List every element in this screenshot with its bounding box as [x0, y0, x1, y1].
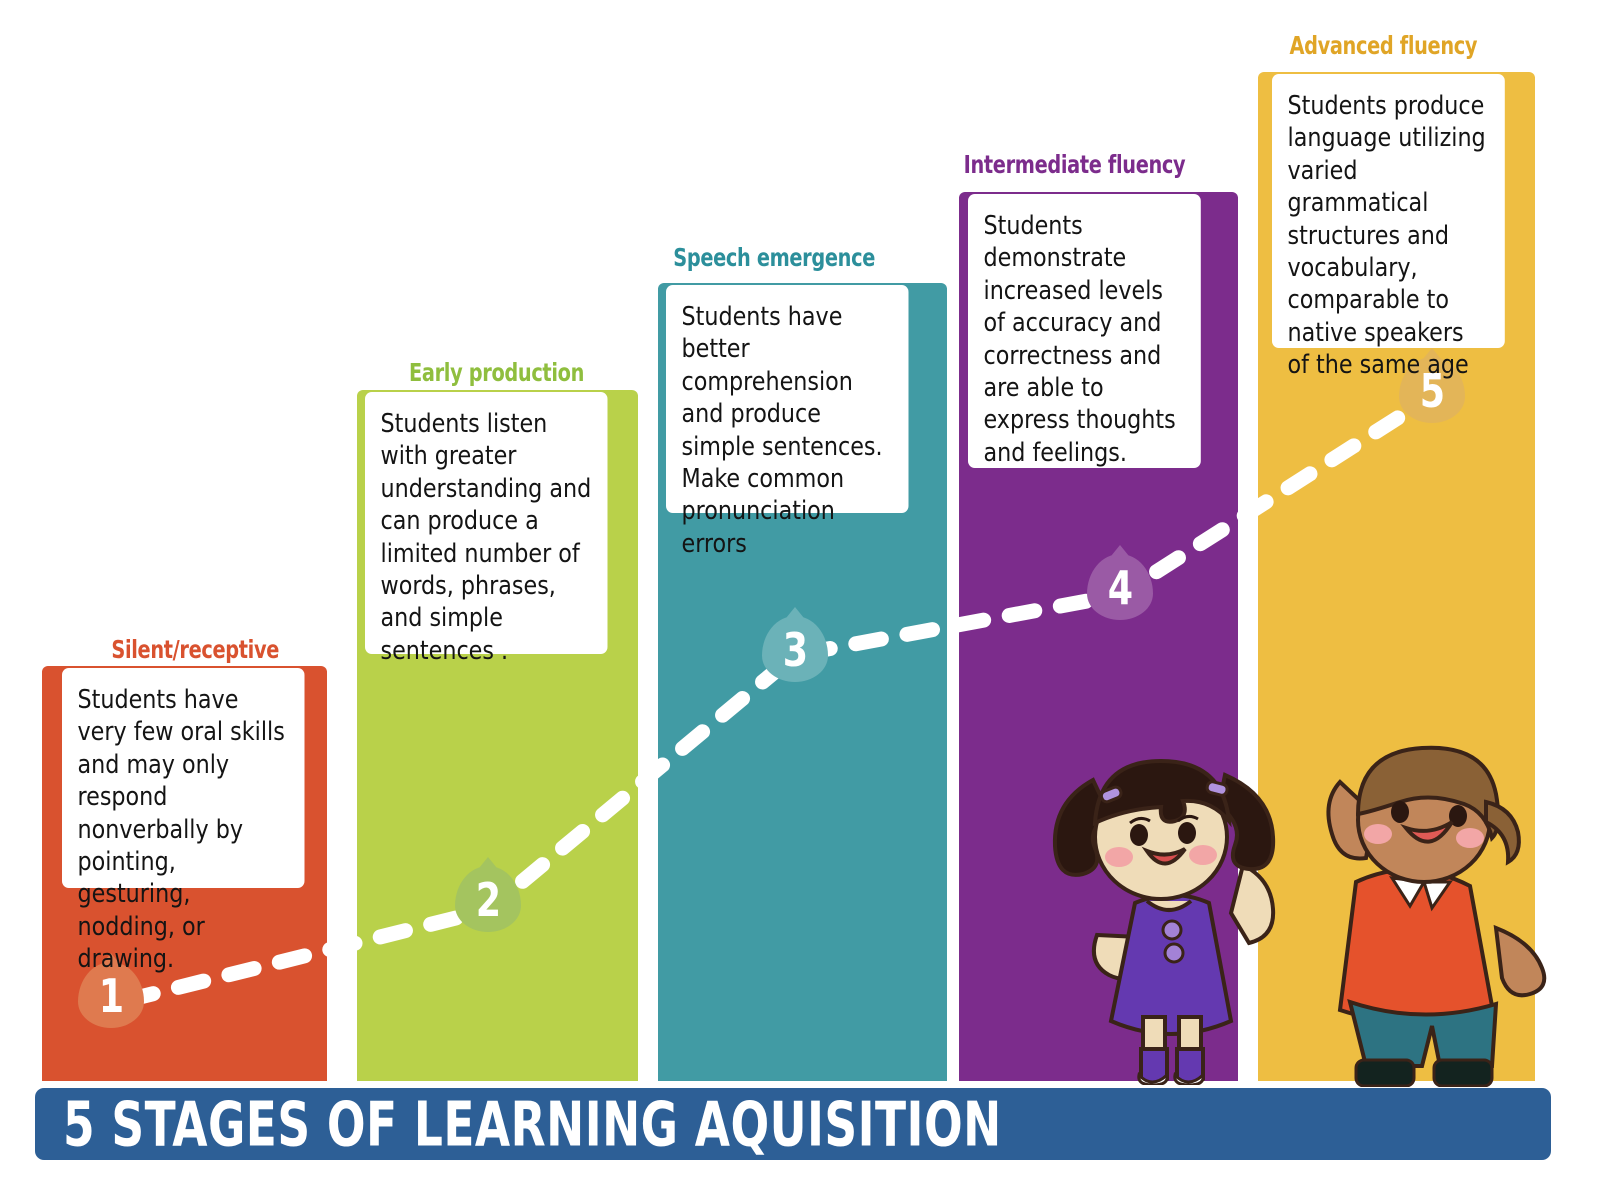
stage-title-1: Silent/receptive [21, 635, 279, 664]
cartoon-boy-illustration [1300, 742, 1555, 1087]
stage-card-3: Students have better comprehension and p… [666, 285, 909, 513]
stage-title-2: Early production [326, 358, 584, 387]
stage-card-5: Students produce language utilizing vari… [1272, 74, 1505, 348]
bottom-title-banner: 5 STAGES OF LEARNING AQUISITION [35, 1088, 1551, 1160]
stage-marker-2-number: 2 [475, 877, 500, 923]
cartoon-girl-illustration [1035, 745, 1305, 1085]
stage-marker-4-number: 4 [1107, 565, 1132, 611]
stage-card-4: Students demonstrate increased levels of… [968, 194, 1201, 468]
stage-title-3: Speech emergence [617, 243, 875, 272]
stage-card-2: Students listen with greater understandi… [365, 392, 608, 654]
stage-card-1: Students have very few oral skills and m… [62, 668, 305, 888]
stage-title-5: Advanced fluency [1221, 31, 1477, 60]
stage-marker-3-number: 3 [782, 627, 807, 673]
stage-title-4: Intermediate fluency [919, 150, 1186, 179]
stage-marker-1-number: 1 [98, 973, 123, 1019]
infographic-canvas: 1 2 3 4 5 Silent/receptive Early product… [0, 0, 1600, 1200]
bottom-title-text: 5 STAGES OF LEARNING AQUISITION [63, 1088, 1002, 1160]
